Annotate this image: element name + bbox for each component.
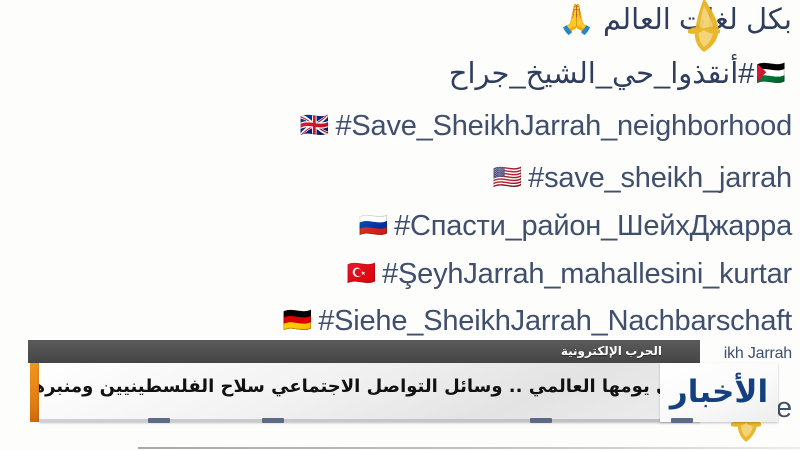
post-line-american: 🇺🇸#save_sheikh_jarrah [491,162,792,195]
bottom-divider [138,447,800,449]
post-line-german-text[interactable]: #Siehe_SheikhJarrah_Nachbarschaft [318,305,792,337]
post-line-russian: 🇷🇺#Спасти_район_ШейхДжарра [357,210,793,243]
post-line-turkish: 🇹🇷#ŞeyhJarrah_mahallesini_kurtar [345,258,792,291]
flag-united-states-icon: 🇺🇸 [493,163,523,191]
post-line-intro-text: بكل لغات العالم 🙏 [559,4,792,36]
flag-russia-icon: 🇷🇺 [359,211,389,239]
post-line-american-text[interactable]: #save_sheikh_jarrah [528,162,792,194]
channel-news-badge-label: الأخبار [670,377,768,408]
flag-germany-icon: 🇩🇪 [283,306,313,334]
headline-text: في يومها العالمي .. وسائل التواصل الاجتم… [39,376,686,397]
post-line-english-text[interactable]: #Save_SheikhJarrah_neighborhood [335,110,792,142]
channel-news-badge: الأخبار [660,363,778,422]
headline-plate: في يومها العالمي .. وسائل التواصل الاجتم… [39,363,700,422]
flag-palestine-icon: 🇵🇸 [756,59,786,87]
topic-strip: الحرب الإلكترونية [28,340,700,363]
post-line-arabic-text[interactable]: #أنقذوا_حي_الشيخ_جراح [449,58,755,90]
ticker-dash [671,418,693,423]
screen: بكل لغات العالم 🙏 🇵🇸#أنقذوا_حي_الشيخ_جرا… [0,0,800,450]
flag-turkey-icon: 🇹🇷 [347,259,377,287]
ticker-dash [530,418,552,423]
flag-united-kingdom-icon: 🇬🇧 [300,111,330,139]
post-line-turkish-text[interactable]: #ŞeyhJarrah_mahallesini_kurtar [382,258,792,290]
lower-third-banner: الحرب الإلكترونية في يومها العالمي .. وس… [0,340,800,425]
ticker-dash [262,418,284,423]
accent-bar [30,363,39,422]
post-line-intro: بكل لغات العالم 🙏 [559,2,792,37]
post-line-english: 🇬🇧#Save_SheikhJarrah_neighborhood [298,110,792,143]
post-line-arabic: 🇵🇸#أنقذوا_حي_الشيخ_جراح [449,56,792,91]
topic-label: الحرب الإلكترونية [561,341,662,362]
post-line-russian-text[interactable]: #Спасти_район_ШейхДжарра [394,210,792,242]
post-line-german: 🇩🇪#Siehe_SheikhJarrah_Nachbarschaft [281,305,792,338]
ticker-dash [148,418,170,423]
